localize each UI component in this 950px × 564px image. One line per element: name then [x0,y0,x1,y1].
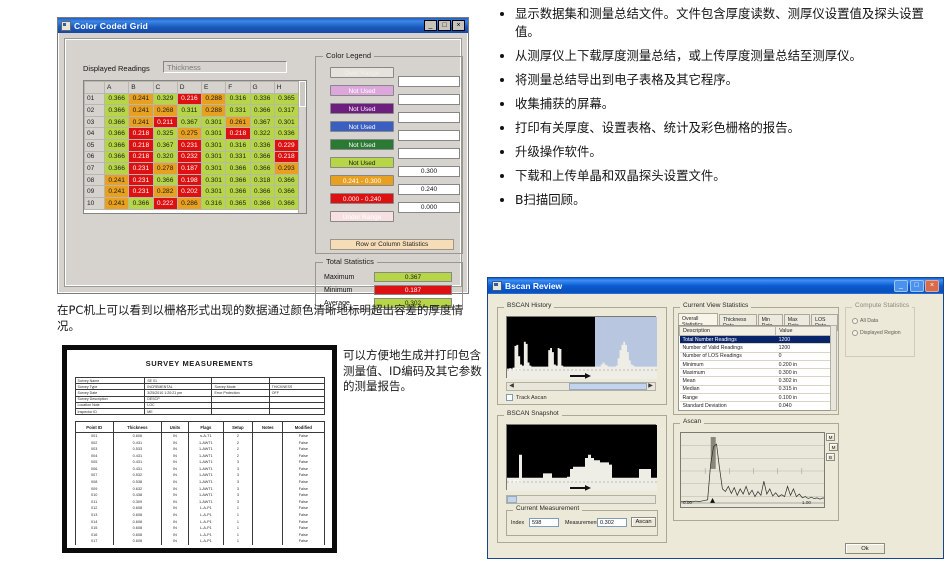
ascan-axis-max: 1.00 [802,500,811,505]
grid-cell[interactable]: 0.301 [202,151,226,163]
survey-cell-modified: False [283,512,324,519]
table-row[interactable]: 080.2410.2310.3660.1980.3010.3660.3180.3… [85,174,299,186]
legend-row: Not Used [330,157,394,168]
survey-cell-thickness: 0.431 [113,452,161,459]
statistic-row: Maximum0.367 [324,272,458,282]
survey-cell-thickness: 0.608 [113,532,161,539]
legend-row: 0.000 - 0.240 [330,193,394,204]
statistics-row[interactable]: Number of Valid Readings1200 [680,344,835,352]
statistic-description: Range [680,394,776,402]
grid-cell[interactable]: 0.329 [153,93,177,105]
feature-bullet: 显示数据集和测量总结文件。文件包含厚度读数、测厚仪设置值及探头设置值。 [515,5,945,40]
survey-readings-body: 0010.606INs-A-T12False0020.431IN1-AWT12F… [75,433,324,545]
color-coded-grid-window: Color Coded Grid _ □ × Displayed Reading… [57,17,469,294]
row-header[interactable]: 02 [85,105,105,117]
grid-cell[interactable]: 0.367 [153,139,177,151]
grid-cell[interactable]: 0.286 [177,197,201,209]
survey-cell-units: IN [161,525,188,532]
survey-cell-thickness: 0.309 [113,499,161,506]
statistics-row[interactable]: Number of LOS Readings0 [680,352,835,360]
survey-cell-id: 015 [75,525,113,532]
color-coded-grid-titlebar[interactable]: Color Coded Grid _ □ × [58,18,468,33]
grid-cell[interactable]: 0.231 [129,186,153,198]
legend-threshold-field[interactable]: 0.240 [398,184,460,195]
checkbox-box[interactable] [506,394,513,401]
grid-cell[interactable]: 0.218 [129,139,153,151]
grid-cell[interactable]: 0.288 [202,93,226,105]
survey-reading-row: 0150.608INL-A-P11False [75,525,324,532]
grid-cell[interactable]: 0.231 [129,174,153,186]
radio-displayed-region-label: Displayed Region [860,330,901,336]
bscan-history-chart[interactable] [506,316,656,378]
grid-cell[interactable]: 0.366 [274,186,298,198]
statistic-value: 0.300 in [776,369,835,377]
survey-cell-notes [253,538,283,545]
statistics-row[interactable]: Total Number Readings1200 [680,336,835,344]
scrollbar-thumb[interactable] [299,81,306,107]
radio-dot-icon[interactable] [852,330,858,336]
displayed-readings-select[interactable]: Thickness [163,61,287,73]
survey-cell-thickness: 0.532 [113,472,161,479]
survey-reading-row: 0160.608INL-A-P11False [75,532,324,539]
col-header-c[interactable]: C [153,82,177,94]
grid-cell[interactable]: 0.366 [226,174,250,186]
col-header-g[interactable]: G [250,82,274,94]
survey-col-header: Units [161,422,188,433]
bscan-history-axis-min: 0.000 [509,367,521,372]
survey-meta-value: ME [145,408,212,414]
table-row[interactable]: 030.3660.2410.2110.3670.3010.2610.3670.3… [85,116,299,128]
scrollbar-thumb[interactable] [569,383,647,390]
survey-cell-modified: False [283,452,324,459]
bscan-snapshot-chart[interactable] [506,424,656,490]
legend-row: 0.241 - 0.300 [330,175,394,186]
grid-cell[interactable]: 0.365 [226,197,250,209]
legend-row: Not Used [330,103,394,114]
survey-cell-flags: 1-AWT1 [189,472,223,479]
statistics-row[interactable]: Minimum0.200 in [680,360,835,368]
row-header[interactable]: 08 [85,174,105,186]
survey-cell-setup: 1 [223,518,253,525]
survey-cell-notes [253,492,283,499]
survey-cell-thickness: 0.431 [113,459,161,466]
grid-cell[interactable]: 0.222 [153,197,177,209]
col-header-b[interactable]: B [129,82,153,94]
grid-cell[interactable]: 0.288 [202,105,226,117]
grid-cell[interactable]: 0.366 [105,105,129,117]
grid-cell[interactable]: 0.241 [129,93,153,105]
survey-cell-flags: 1-AWT1 [189,452,223,459]
survey-cell-setup: 3 [223,492,253,499]
minimize-button[interactable]: _ [894,280,908,292]
col-header-d[interactable]: D [177,82,201,94]
survey-cell-units: IN [161,459,188,466]
grid-cell[interactable]: 0.331 [226,105,250,117]
row-header[interactable]: 05 [85,139,105,151]
grid-cell[interactable]: 0.211 [153,116,177,128]
feature-bullets: 显示数据集和测量总结文件。文件包含厚度读数、测厚仪设置值及探头设置值。从测厚仪上… [497,5,945,208]
survey-cell-thickness: 0.608 [113,512,161,519]
legend-swatch[interactable]: Under Range [330,211,394,222]
grid-cell[interactable]: 0.301 [202,174,226,186]
grid-cell[interactable]: 0.231 [177,139,201,151]
table-row[interactable]: 070.3660.2310.2780.1870.3010.3660.3660.2… [85,163,299,175]
measurement-label: Measurement [565,520,598,526]
survey-cell-flags: 1-AWT1 [189,466,223,473]
radio-dot-icon[interactable] [852,318,858,324]
grid-cell[interactable]: 0.366 [153,174,177,186]
scroll-left-icon[interactable]: ◀ [507,383,516,390]
grid-cell[interactable]: 0.366 [250,186,274,198]
row-header[interactable]: 01 [85,93,105,105]
survey-reading-row: 0170.608INL-A-P11False [75,538,324,545]
survey-cell-id: 013 [75,512,113,519]
col-description: Description [680,327,776,336]
survey-cell-thickness: 0.431 [113,466,161,473]
survey-reading-row: 0060.431IN1-AWT13False [75,466,324,473]
legend-row: Not Used [330,85,394,96]
legend-swatch[interactable]: Over Range [330,67,394,78]
gate-m2-button[interactable]: M [829,443,838,451]
grid-cell[interactable]: 0.318 [250,174,274,186]
grid-vertical-scrollbar[interactable] [298,81,306,213]
survey-cell-id: 004 [75,452,113,459]
gate-m1-button[interactable]: M [826,433,835,441]
bscan-window-title: Bscan Review [505,281,562,291]
survey-cell-flags: 1-AWT1 [189,492,223,499]
scroll-right-icon[interactable]: ▶ [646,383,655,390]
window-icon [61,21,71,31]
row-header[interactable]: 07 [85,163,105,175]
survey-cell-modified: False [283,433,324,440]
bscan-history-scrollbar[interactable]: ◀ ▶ [506,382,656,391]
maximize-button[interactable]: □ [438,20,451,31]
survey-cell-notes [253,459,283,466]
grid-cell[interactable]: 0.241 [129,116,153,128]
scrollbar-thumb[interactable] [507,496,517,503]
statistic-value: 0.187 [374,285,452,295]
survey-meta-label2 [212,408,269,414]
legend-threshold-field[interactable]: 0.300 [398,166,460,177]
table-row[interactable]: 040.3660.2180.3250.2750.3010.2180.3220.3… [85,128,299,140]
survey-cell-notes [253,499,283,506]
survey-cell-notes [253,525,283,532]
survey-cell-modified: False [283,439,324,446]
legend-row: Over Range [330,67,394,78]
survey-cell-id: 005 [75,459,113,466]
grid-cell[interactable]: 0.261 [226,116,250,128]
grid-cell[interactable]: 0.331 [226,151,250,163]
statistics-table-wrap[interactable]: Description Value Total Number Readings1… [678,325,836,411]
table-row[interactable]: 060.3660.2180.3200.2320.3010.3310.3660.2… [85,151,299,163]
statistics-body: Total Number Readings1200Number of Valid… [680,336,835,411]
table-row[interactable]: 050.3660.2180.3670.2310.3010.3160.3360.2… [85,139,299,151]
grid-cell[interactable]: 0.311 [177,105,201,117]
legend-swatch[interactable]: Not Used [330,103,394,114]
track-ascan-label: Track Ascan [516,395,547,401]
grid-cell[interactable]: 0.366 [274,174,298,186]
statistic-value: 0.315 in [776,385,835,393]
grid-cell[interactable]: 0.301 [202,116,226,128]
index-label: Index [511,520,524,526]
grid-cell[interactable]: 0.301 [202,186,226,198]
survey-cell-units: IN [161,499,188,506]
grid-cell[interactable]: 0.366 [250,151,274,163]
ascan-axis-min: 0.00 [683,500,692,505]
survey-reading-row: 0110.309IN1-AWT13False [75,499,324,506]
legend-threshold-field[interactable] [398,76,460,87]
legend-swatch[interactable]: 0.241 - 0.300 [330,175,394,186]
statistic-value: 0.040 [776,402,835,410]
survey-cell-flags: 1-AWT1 [189,479,223,486]
grid-cell[interactable]: 0.232 [177,151,201,163]
survey-col-header: Notes [253,422,283,433]
legend-swatch[interactable]: Not Used [330,139,394,150]
grid-cell[interactable]: 0.320 [153,151,177,163]
grid-cell[interactable]: 0.366 [105,139,129,151]
grid-cell[interactable]: 0.218 [129,151,153,163]
survey-readings-header: Point IDThicknessUnitsFlagsSetupNotesMod… [75,422,324,433]
legend-threshold-field[interactable] [398,130,460,141]
grid-cell[interactable]: 0.301 [274,116,298,128]
index-field[interactable]: 598 [529,518,559,527]
maximize-button[interactable]: □ [910,280,924,292]
statistics-row[interactable]: Maximum0.300 in [680,369,835,377]
col-header-a[interactable]: A [105,82,129,94]
legend-swatch[interactable]: Not Used [330,157,394,168]
grid-cell[interactable]: 0.301 [202,139,226,151]
grid-cell[interactable]: 0.216 [177,93,201,105]
ascan-button[interactable]: Ascan [631,517,656,527]
legend-threshold-field[interactable] [398,94,460,105]
survey-col-header: Setup [223,422,253,433]
minimize-button[interactable]: _ [424,20,437,31]
feature-bullet: B扫描回顾。 [515,191,945,209]
survey-cell-flags: s-A-T1 [189,433,223,440]
row-header[interactable]: 10 [85,197,105,209]
grid-cell[interactable]: 0.366 [105,128,129,140]
grid-cell[interactable]: 0.366 [129,197,153,209]
grid-cell[interactable]: 0.367 [177,116,201,128]
grid-cell[interactable]: 0.336 [250,139,274,151]
survey-reading-row: 0140.608INL-A-P11False [75,518,324,525]
ok-button[interactable]: Ok [845,543,885,554]
col-header-e[interactable]: E [202,82,226,94]
bscan-history-title: BSCAN History [504,302,554,309]
survey-cell-modified: False [283,499,324,506]
feature-bullet: 将测量总结导出到电子表格及其它程序。 [515,71,945,89]
survey-cell-flags: 1-AWT1 [189,499,223,506]
grid-cell[interactable]: 0.316 [226,139,250,151]
statistics-vertical-scrollbar[interactable] [830,325,837,411]
table-row[interactable]: 010.3660.2410.3290.2160.2880.3160.3360.3… [85,93,299,105]
grid-cell[interactable]: 0.301 [202,163,226,175]
statistic-label: Maximum [324,274,374,281]
col-header-f[interactable]: F [226,82,250,94]
grid-cell[interactable]: 0.325 [153,128,177,140]
grid-cell[interactable]: 0.202 [177,186,201,198]
statistics-header-row: Description Value [680,327,835,336]
grid-cell[interactable]: 0.301 [202,128,226,140]
grid-cell[interactable]: 0.317 [274,105,298,117]
legend-threshold-field[interactable]: 0.000 [398,202,460,213]
current-view-statistics-title: Current View Statistics [680,302,751,309]
color-coded-grid-body: 010.3660.2410.3290.2160.2880.3160.3360.3… [85,93,299,209]
grid-cell[interactable]: 0.241 [129,105,153,117]
survey-meta-label: Inspector ID [75,408,145,414]
legend-swatch[interactable]: Not Used [330,121,394,132]
survey-cell-units: IN [161,512,188,519]
statistics-row[interactable]: Range0.100 in [680,394,835,402]
grid-cell[interactable]: 0.218 [226,128,250,140]
statistics-row[interactable]: Standard Deviation0.040 [680,402,835,410]
survey-meta-value2 [269,408,324,414]
radio-displayed-region[interactable]: Displayed Region [852,330,901,336]
grid-cell[interactable]: 0.367 [250,116,274,128]
grid-cell[interactable]: 0.366 [226,163,250,175]
survey-cell-units: IN [161,505,188,512]
statistic-description: Minimum [680,360,776,368]
grid-cell[interactable]: 0.275 [177,128,201,140]
grid-cell[interactable]: 0.229 [274,139,298,151]
grid-cell[interactable]: 0.366 [105,116,129,128]
survey-cell-thickness: 0.438 [113,492,161,499]
grid-cell[interactable]: 0.218 [129,128,153,140]
radio-all-data[interactable]: All Data [852,318,878,324]
survey-reading-row: 0080.538IN1-AWT13False [75,479,324,486]
survey-cell-id: 011 [75,499,113,506]
grid-cell[interactable]: 0.187 [177,163,201,175]
survey-cell-units: IN [161,492,188,499]
grid-cell[interactable]: 0.241 [105,197,129,209]
color-coded-grid-table-wrap[interactable]: A B C D E F G H 010.3660.2410.3290.2160.… [83,80,307,214]
grid-cell[interactable]: 0.316 [226,93,250,105]
bscan-snapshot-axis-min: 0.000 [509,479,521,484]
color-coded-grid-table: A B C D E F G H 010.3660.2410.3290.2160.… [84,81,299,210]
survey-cell-modified: False [283,505,324,512]
ascan-waveform-chart[interactable] [680,432,825,508]
survey-cell-modified: False [283,446,324,453]
survey-cell-thickness: 0.608 [113,525,161,532]
col-header-h[interactable]: H [274,82,298,94]
grid-cell[interactable]: 0.241 [105,174,129,186]
table-row[interactable]: 020.3660.2410.2680.3110.2880.3310.3660.3… [85,105,299,117]
survey-cell-notes [253,452,283,459]
grid-cell[interactable]: 0.366 [105,93,129,105]
grid-cell[interactable]: 0.366 [274,197,298,209]
bscan-titlebar[interactable]: Bscan Review _ □ × [488,278,943,294]
statistic-description: Maximum [680,369,776,377]
grid-cell[interactable]: 0.282 [153,186,177,198]
grid-cell[interactable]: 0.293 [274,163,298,175]
row-header[interactable]: 09 [85,186,105,198]
grid-cell[interactable]: 0.366 [105,151,129,163]
survey-cell-setup: 1 [223,525,253,532]
survey-cell-setup: 2 [223,452,253,459]
table-row[interactable]: 090.2410.2310.2820.2020.3010.3660.3660.3… [85,186,299,198]
survey-cell-setup: 2 [223,446,253,453]
grid-cell[interactable]: 0.322 [250,128,274,140]
current-measurement-title: Current Measurement [513,505,582,512]
bscan-snapshot-title: BSCAN Snapshot [504,410,562,417]
bscan-review-window: Bscan Review _ □ × BSCAN History 0.000 ◀… [487,277,944,559]
grid-cell[interactable]: 0.366 [250,105,274,117]
grid-cell[interactable]: 0.218 [274,151,298,163]
grid-cell[interactable]: 0.366 [250,197,274,209]
close-button[interactable]: × [452,20,465,31]
grid-cell[interactable]: 0.241 [105,186,129,198]
track-ascan-checkbox[interactable]: Track Ascan [506,394,547,401]
survey-cell-flags: 1-AWT1 [189,485,223,492]
gate-b-button[interactable]: B [826,453,835,461]
survey-cell-flags: L-A-P1 [189,505,223,512]
close-button[interactable]: × [925,280,939,292]
statistic-row: Minimum0.187 [324,285,458,295]
grid-cell[interactable]: 0.198 [177,174,201,186]
grid-cell[interactable]: 0.316 [202,197,226,209]
bscan-window-controls: _ □ × [894,280,941,292]
legend-swatch[interactable]: 0.000 - 0.240 [330,193,394,204]
survey-cell-id: 009 [75,485,113,492]
survey-cell-id: 006 [75,466,113,473]
survey-reading-row: 0120.608INL-A-P11False [75,505,324,512]
grid-cell[interactable]: 0.366 [226,186,250,198]
survey-cell-units: IN [161,452,188,459]
grid-cell[interactable]: 0.278 [153,163,177,175]
table-row[interactable]: 100.2410.3660.2220.2860.3160.3650.3660.3… [85,197,299,209]
survey-cell-setup: 3 [223,466,253,473]
grid-cell[interactable]: 0.336 [274,128,298,140]
grid-cell[interactable]: 0.231 [129,163,153,175]
grid-cell[interactable]: 0.336 [250,93,274,105]
survey-cell-units: IN [161,518,188,525]
legend-threshold-field[interactable] [398,148,460,159]
statistic-value: 0.100 in [776,394,835,402]
survey-cell-setup: 2 [223,433,253,440]
col-value: Value [776,327,835,336]
row-or-column-statistics-button[interactable]: Row or Column Statistics [330,239,454,250]
total-statistics-title: Total Statistics [323,257,377,266]
survey-reading-row: 0030.533IN1-AWT12False [75,446,324,453]
compute-statistics-group: Compute Statistics All Data Displayed Re… [845,307,915,357]
survey-reading-row: 0130.608INL-A-P11False [75,512,324,519]
row-header[interactable]: 03 [85,116,105,128]
legend-swatch[interactable]: Not Used [330,85,394,96]
grid-cell[interactable]: 0.365 [274,93,298,105]
statistic-value: 0.200 in [776,360,835,368]
statistics-row[interactable]: Mean0.302 in [680,377,835,385]
survey-cell-flags: 1-AWT1 [189,439,223,446]
survey-cell-flags: 1-AWT1 [189,459,223,466]
ascan-group: Ascan 0.00 1.00 M M B [673,423,839,521]
grid-cell[interactable]: 0.366 [250,163,274,175]
color-legend-group: Color Legend Over RangeNot UsedNot UsedN… [315,56,463,254]
corner-cell [85,82,105,94]
row-header[interactable]: 06 [85,151,105,163]
grid-cell[interactable]: 0.366 [105,163,129,175]
legend-threshold-field[interactable] [398,112,460,123]
survey-cell-notes [253,479,283,486]
measurement-field[interactable]: 0.302 [597,518,627,527]
survey-cell-modified: False [283,525,324,532]
row-header[interactable]: 04 [85,128,105,140]
bscan-snapshot-scrollbar[interactable] [506,495,656,504]
survey-cell-units: IN [161,446,188,453]
grid-cell[interactable]: 0.268 [153,105,177,117]
statistics-row[interactable]: Median0.315 in [680,385,835,393]
survey-cell-thickness: 0.608 [113,518,161,525]
survey-cell-units: IN [161,485,188,492]
